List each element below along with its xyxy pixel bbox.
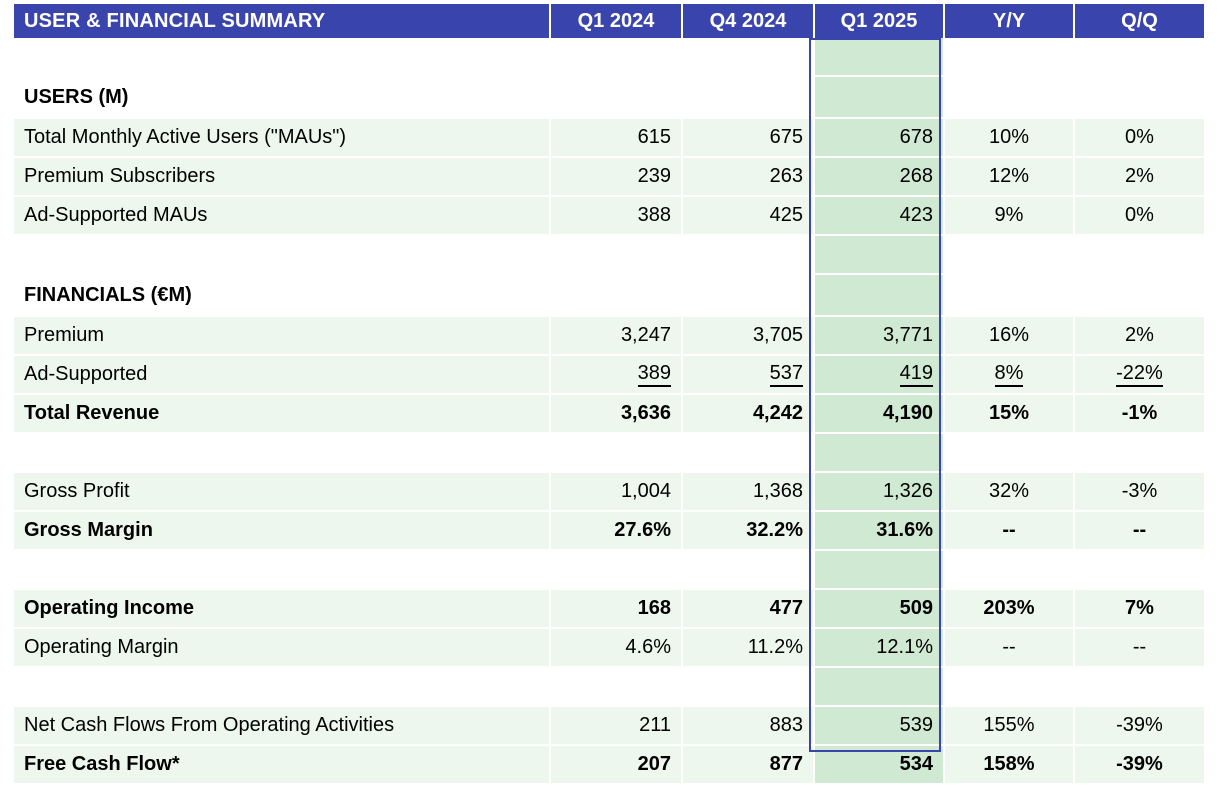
cell-yy[interactable]: 9% [944, 196, 1074, 235]
spacer-cell-q4-2024[interactable] [682, 667, 814, 706]
spacer-cell-q1-2024[interactable] [550, 76, 682, 118]
cell-qq[interactable]: 2% [1074, 316, 1204, 355]
cell-qq[interactable]: 7% [1074, 589, 1204, 628]
spacer-cell-q1-2024[interactable] [550, 550, 682, 589]
row-label[interactable]: Ad-Supported [14, 355, 550, 394]
cell-q1-2024[interactable]: 4.6% [550, 628, 682, 667]
cell-qq[interactable]: -- [1074, 628, 1204, 667]
spacer-cell-q1-2024[interactable] [550, 38, 682, 76]
row-label[interactable]: Free Cash Flow* [14, 745, 550, 784]
cell-yy[interactable]: -- [944, 511, 1074, 550]
spacer-cell [14, 235, 550, 274]
spacer-cell-yy[interactable] [944, 274, 1074, 316]
row-label[interactable]: Ad-Supported MAUs [14, 196, 550, 235]
cell-yy[interactable]: 16% [944, 316, 1074, 355]
cell-q4-2024[interactable]: 425 [682, 196, 814, 235]
spacer-cell [14, 433, 550, 472]
cell-qq[interactable]: 0% [1074, 118, 1204, 157]
cell-q4-2024[interactable]: 675 [682, 118, 814, 157]
spacer-cell-q4-2024[interactable] [682, 235, 814, 274]
column-header-qq[interactable]: Q/Q [1074, 4, 1204, 38]
cell-yy[interactable]: 10% [944, 118, 1074, 157]
spacer-cell [14, 550, 550, 589]
cell-q1-2024[interactable]: 388 [550, 196, 682, 235]
spacer-row [14, 235, 1204, 274]
cell-yy[interactable]: 12% [944, 157, 1074, 196]
cell-q1-2024[interactable]: 27.6% [550, 511, 682, 550]
spacer-cell-yy[interactable] [944, 667, 1074, 706]
spacer-cell-q1-2025[interactable] [814, 274, 944, 316]
cell-q4-2024[interactable]: 883 [682, 706, 814, 745]
cell-q1-2024[interactable]: 3,636 [550, 394, 682, 433]
cell-q1-2025[interactable]: 31.6% [814, 511, 944, 550]
row-label[interactable]: Operating Income [14, 589, 550, 628]
table-title: USER & FINANCIAL SUMMARY [14, 4, 550, 38]
spacer-cell-qq[interactable] [1074, 38, 1204, 76]
cell-q4-2024[interactable]: 4,242 [682, 394, 814, 433]
spacer-cell [14, 667, 550, 706]
spacer-cell-q1-2025[interactable] [814, 76, 944, 118]
column-header-q4-2024[interactable]: Q4 2024 [682, 4, 814, 38]
spacer-cell-qq[interactable] [1074, 433, 1204, 472]
row-label[interactable]: Net Cash Flows From Operating Activities [14, 706, 550, 745]
spacer-cell-q4-2024[interactable] [682, 38, 814, 76]
cell-qq[interactable]: -3% [1074, 472, 1204, 511]
table-row[interactable]: Operating Income168477509203%7% [14, 589, 1204, 628]
cell-yy[interactable]: 158% [944, 745, 1074, 784]
cell-q4-2024[interactable]: 1,368 [682, 472, 814, 511]
spacer-cell-yy[interactable] [944, 433, 1074, 472]
table-row[interactable]: Free Cash Flow*207877534158%-39% [14, 745, 1204, 784]
spacer-cell-q1-2025[interactable] [814, 433, 944, 472]
row-label[interactable]: Total Revenue [14, 394, 550, 433]
column-header-q1-2025[interactable]: Q1 2025 [814, 4, 944, 38]
spacer-cell-q4-2024[interactable] [682, 76, 814, 118]
table-row[interactable]: Gross Profit1,0041,3681,32632%-3% [14, 472, 1204, 511]
table-row[interactable]: Total Revenue3,6364,2424,19015%-1% [14, 394, 1204, 433]
cell-qq[interactable]: 0% [1074, 196, 1204, 235]
cell-qq[interactable]: -39% [1074, 745, 1204, 784]
column-header-q1-2024[interactable]: Q1 2024 [550, 4, 682, 38]
spacer-cell [14, 38, 550, 76]
cell-q1-2024[interactable]: 207 [550, 745, 682, 784]
cell-q4-2024[interactable]: 877 [682, 745, 814, 784]
cell-q1-2024[interactable]: 168 [550, 589, 682, 628]
spacer-cell-q4-2024[interactable] [682, 274, 814, 316]
cell-q1-2025[interactable]: 268 [814, 157, 944, 196]
section-heading-label: FINANCIALS (€M) [14, 274, 550, 316]
cell-qq[interactable]: 2% [1074, 157, 1204, 196]
row-label[interactable]: Gross Margin [14, 511, 550, 550]
spacer-row [14, 667, 1204, 706]
cell-qq[interactable]: -1% [1074, 394, 1204, 433]
cell-q1-2024[interactable]: 615 [550, 118, 682, 157]
row-label[interactable]: Total Monthly Active Users ("MAUs") [14, 118, 550, 157]
spacer-cell-q1-2024[interactable] [550, 235, 682, 274]
cell-q1-2025[interactable]: 678 [814, 118, 944, 157]
spacer-cell-yy[interactable] [944, 235, 1074, 274]
spacer-cell-yy[interactable] [944, 38, 1074, 76]
spacer-cell-q1-2024[interactable] [550, 667, 682, 706]
table-row[interactable]: Gross Margin27.6%32.2%31.6%---- [14, 511, 1204, 550]
table-row[interactable]: Net Cash Flows From Operating Activities… [14, 706, 1204, 745]
cell-q1-2024[interactable]: 239 [550, 157, 682, 196]
section-heading-row: FINANCIALS (€M) [14, 274, 1204, 316]
cell-q1-2024[interactable]: 211 [550, 706, 682, 745]
cell-q1-2025[interactable]: 3,771 [814, 316, 944, 355]
cell-yy[interactable]: 15% [944, 394, 1074, 433]
spacer-cell-q1-2025[interactable] [814, 667, 944, 706]
spacer-cell-yy[interactable] [944, 550, 1074, 589]
table-row[interactable]: Premium Subscribers23926326812%2% [14, 157, 1204, 196]
cell-qq[interactable]: -22% [1074, 355, 1204, 394]
cell-q4-2024[interactable]: 537 [682, 355, 814, 394]
cell-q1-2025[interactable]: 12.1% [814, 628, 944, 667]
row-label[interactable]: Gross Profit [14, 472, 550, 511]
cell-q1-2025[interactable]: 1,326 [814, 472, 944, 511]
spacer-cell-qq[interactable] [1074, 550, 1204, 589]
table-row[interactable]: Premium3,2473,7053,77116%2% [14, 316, 1204, 355]
spacer-row [14, 433, 1204, 472]
cell-q1-2025[interactable]: 534 [814, 745, 944, 784]
cell-q1-2025[interactable]: 419 [814, 355, 944, 394]
section-heading-row: USERS (M) [14, 76, 1204, 118]
row-label[interactable]: Operating Margin [14, 628, 550, 667]
cell-q4-2024[interactable]: 32.2% [682, 511, 814, 550]
spacer-row [14, 550, 1204, 589]
table-row[interactable]: Operating Margin4.6%11.2%12.1%---- [14, 628, 1204, 667]
cell-yy[interactable]: 155% [944, 706, 1074, 745]
spacer-cell-q1-2024[interactable] [550, 433, 682, 472]
cell-q1-2024[interactable]: 389 [550, 355, 682, 394]
table-header-row: USER & FINANCIAL SUMMARY Q1 2024 Q4 2024… [14, 4, 1204, 38]
cell-q1-2025[interactable]: 509 [814, 589, 944, 628]
cell-q1-2024[interactable]: 1,004 [550, 472, 682, 511]
spacer-cell-qq[interactable] [1074, 76, 1204, 118]
financial-summary-table: USER & FINANCIAL SUMMARY Q1 2024 Q4 2024… [14, 4, 1204, 785]
cell-q1-2025[interactable]: 539 [814, 706, 944, 745]
cell-q4-2024[interactable]: 263 [682, 157, 814, 196]
spacer-cell-q1-2025[interactable] [814, 550, 944, 589]
spacer-cell-q1-2025[interactable] [814, 235, 944, 274]
cell-yy[interactable]: -- [944, 628, 1074, 667]
cell-q4-2024[interactable]: 11.2% [682, 628, 814, 667]
row-label[interactable]: Premium Subscribers [14, 157, 550, 196]
spacer-cell-q1-2024[interactable] [550, 274, 682, 316]
cell-yy[interactable]: 203% [944, 589, 1074, 628]
cell-q1-2024[interactable]: 3,247 [550, 316, 682, 355]
cell-q4-2024[interactable]: 477 [682, 589, 814, 628]
cell-q1-2025[interactable]: 4,190 [814, 394, 944, 433]
spacer-row [14, 38, 1204, 76]
section-heading-label: USERS (M) [14, 76, 550, 118]
spacer-cell-qq[interactable] [1074, 667, 1204, 706]
table-row[interactable]: Total Monthly Active Users ("MAUs")61567… [14, 118, 1204, 157]
cell-qq[interactable]: -39% [1074, 706, 1204, 745]
table-row[interactable]: Ad-Supported MAUs3884254239%0% [14, 196, 1204, 235]
cell-qq[interactable]: -- [1074, 511, 1204, 550]
spacer-cell-yy[interactable] [944, 76, 1074, 118]
cell-q4-2024[interactable]: 3,705 [682, 316, 814, 355]
column-header-yy[interactable]: Y/Y [944, 4, 1074, 38]
cell-yy[interactable]: 8% [944, 355, 1074, 394]
table-row[interactable]: Ad-Supported3895374198%-22% [14, 355, 1204, 394]
table-body: USERS (M)Total Monthly Active Users ("MA… [14, 38, 1204, 784]
cell-yy[interactable]: 32% [944, 472, 1074, 511]
spacer-cell-qq[interactable] [1074, 274, 1204, 316]
spacer-cell-q4-2024[interactable] [682, 550, 814, 589]
spreadsheet-canvas: USER & FINANCIAL SUMMARY Q1 2024 Q4 2024… [0, 0, 1230, 770]
row-label[interactable]: Premium [14, 316, 550, 355]
spacer-cell-q1-2025[interactable] [814, 38, 944, 76]
cell-q1-2025[interactable]: 423 [814, 196, 944, 235]
spacer-cell-qq[interactable] [1074, 235, 1204, 274]
spacer-cell-q4-2024[interactable] [682, 433, 814, 472]
